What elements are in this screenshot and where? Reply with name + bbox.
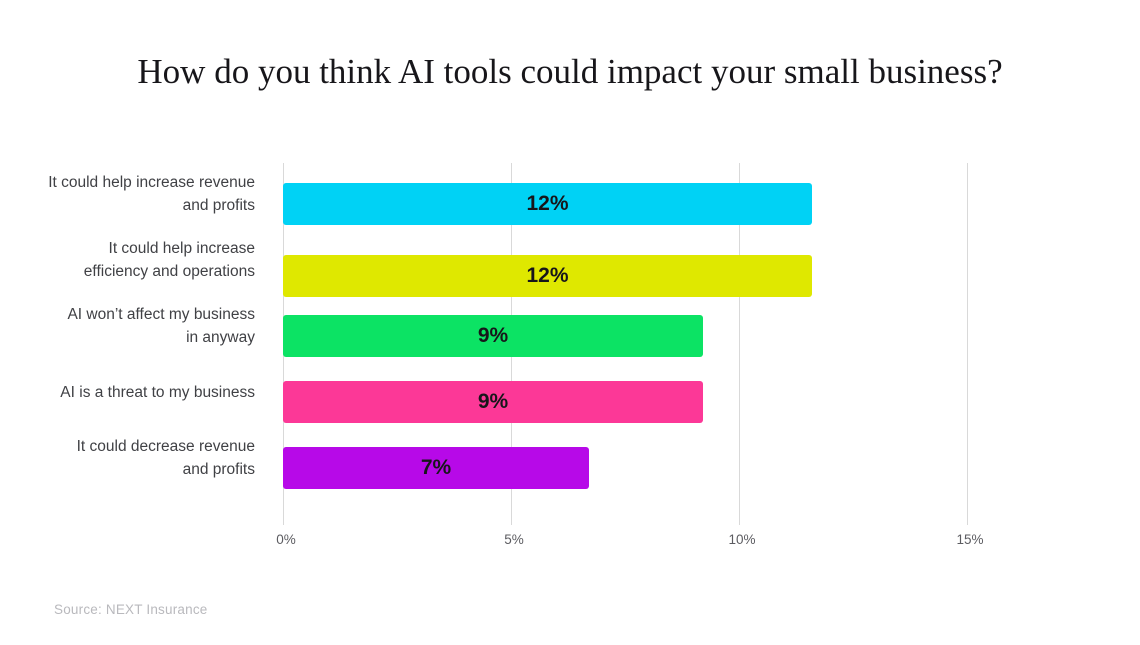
x-axis-labels: 0% 5% 10% 15% [0, 532, 1140, 554]
y-axis-label-line: efficiency and operations [0, 260, 255, 283]
x-axis-tick-label: 5% [504, 532, 524, 547]
bar[interactable] [283, 447, 589, 489]
bar[interactable] [283, 315, 703, 357]
y-axis-label: AI is a threat to my business [0, 381, 255, 404]
x-axis-tick-label: 15% [956, 532, 983, 547]
bar[interactable] [283, 381, 703, 423]
y-axis-label-line: and profits [0, 458, 255, 481]
bar-row: 12% [283, 183, 968, 225]
x-axis-tick-label: 0% [276, 532, 296, 547]
bars-layer: 12% 12% 9% 9% 7% [283, 163, 968, 525]
y-axis-label: It could help increase efficiency and op… [0, 237, 255, 283]
y-axis-label-line: and profits [0, 194, 255, 217]
source-note: Source: NEXT Insurance [54, 602, 207, 617]
y-axis-label: AI won’t affect my business in anyway [0, 303, 255, 349]
y-axis-label-line: in anyway [0, 326, 255, 349]
y-axis-label-line: It could decrease revenue [0, 435, 255, 458]
bar-row: 12% [283, 255, 968, 297]
bar[interactable] [283, 255, 812, 297]
page-title: How do you think AI tools could impact y… [0, 52, 1140, 92]
y-axis-label: It could decrease revenue and profits [0, 435, 255, 481]
y-axis-label-line: It could help increase [0, 237, 255, 260]
y-axis-label-line: AI won’t affect my business [0, 303, 255, 326]
y-axis-label-line: AI is a threat to my business [0, 381, 255, 404]
y-axis-label-line: It could help increase revenue [0, 171, 255, 194]
x-axis-tick-label: 10% [728, 532, 755, 547]
plot-area: 12% 12% 9% 9% 7% [283, 163, 968, 525]
y-axis-labels: It could help increase revenue and profi… [0, 163, 255, 525]
y-axis-label: It could help increase revenue and profi… [0, 171, 255, 217]
bar-row: 7% [283, 447, 968, 489]
bar-row: 9% [283, 381, 968, 423]
bar[interactable] [283, 183, 812, 225]
bar-row: 9% [283, 315, 968, 357]
